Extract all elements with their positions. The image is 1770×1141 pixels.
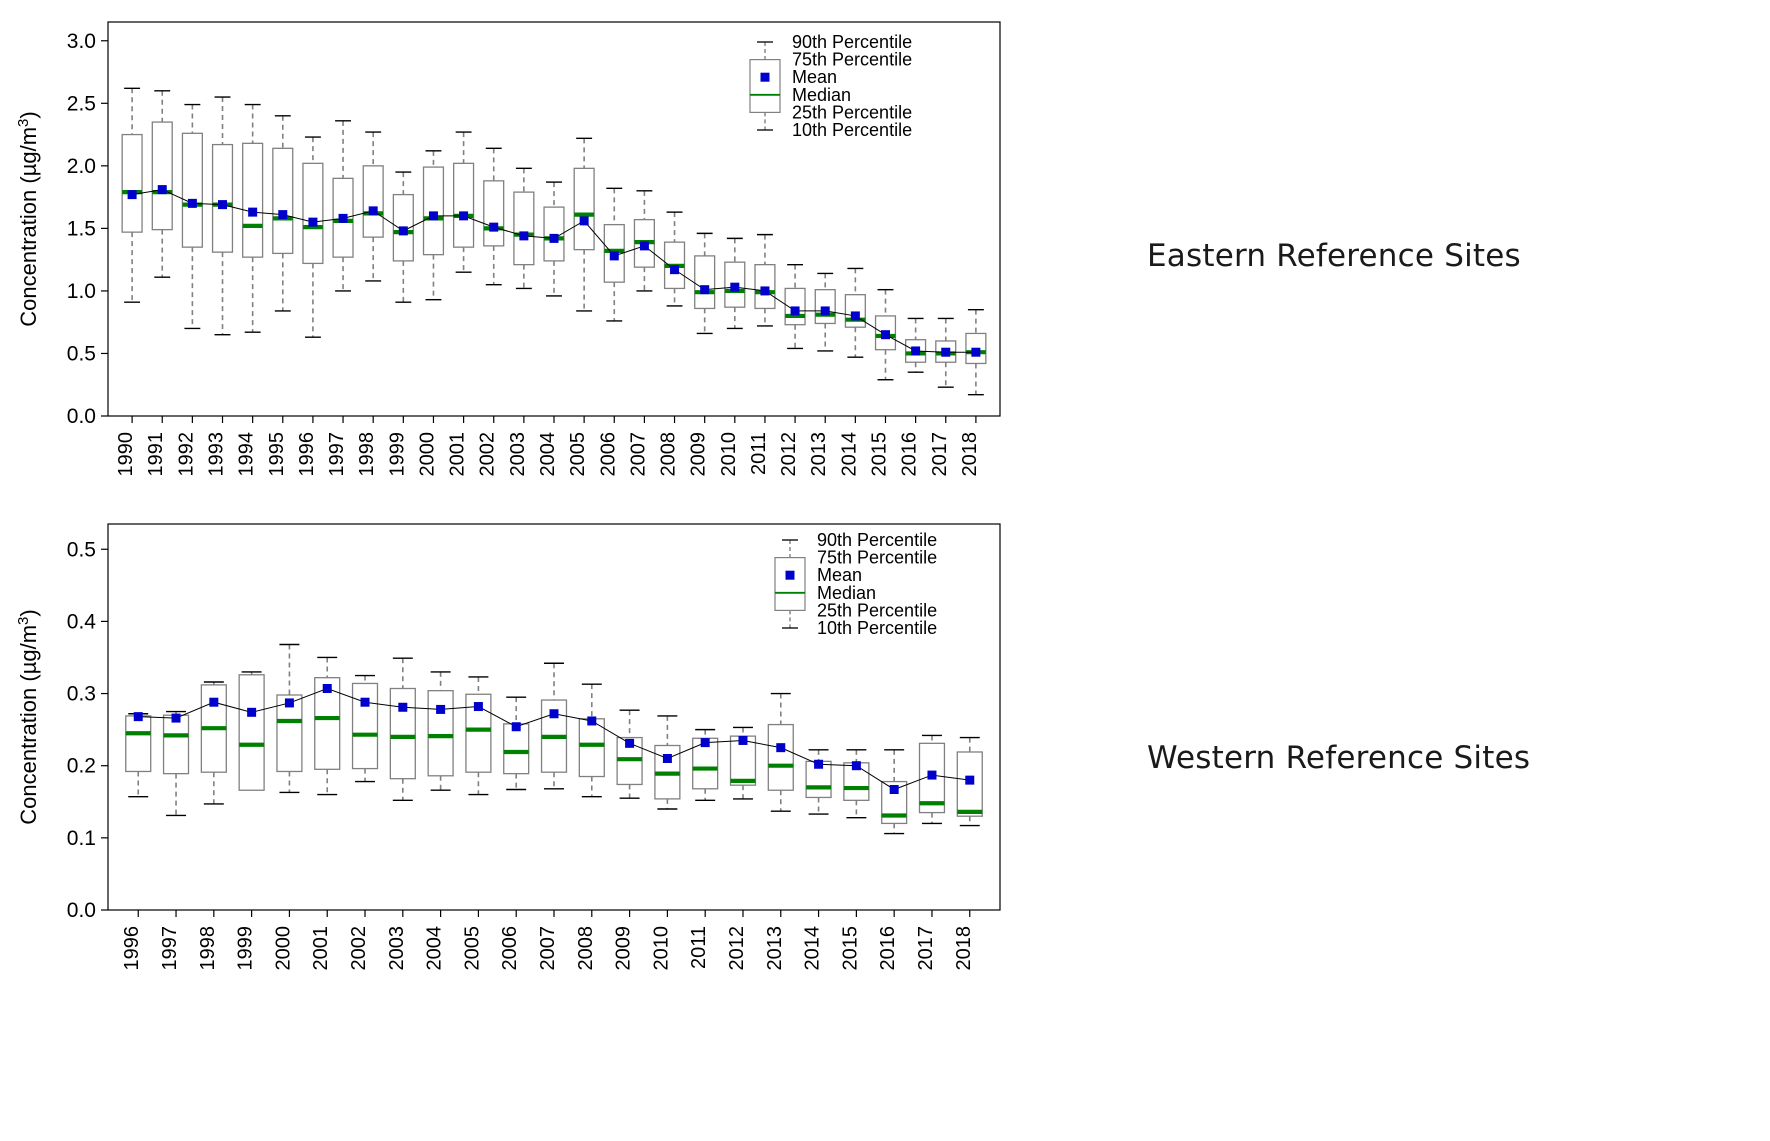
y-tick-label: 0.0 xyxy=(67,405,96,428)
chart-panel-eastern: 0.00.51.01.52.02.53.0Concentration (µg/m… xyxy=(0,0,1030,510)
x-tick-label: 2003 xyxy=(507,432,529,477)
x-tick-label: 2012 xyxy=(726,926,748,971)
mean-marker xyxy=(580,216,589,225)
box-iqr xyxy=(579,719,604,777)
mean-marker xyxy=(248,208,257,217)
x-tick-label: 2012 xyxy=(778,432,800,477)
y-tick-label: 0.3 xyxy=(67,683,96,706)
box-iqr xyxy=(845,295,865,328)
x-tick-label: 1990 xyxy=(115,432,137,477)
x-tick-label: 1993 xyxy=(206,432,228,477)
mean-marker xyxy=(890,785,899,794)
x-tick-label: 2016 xyxy=(877,926,899,971)
mean-marker xyxy=(852,761,861,770)
mean-marker xyxy=(158,185,167,194)
mean-marker xyxy=(369,206,378,215)
x-tick-label: 2005 xyxy=(567,432,589,477)
legend-label: 10th Percentile xyxy=(817,618,937,638)
y-tick-label: 2.0 xyxy=(67,155,96,178)
x-tick-label: 2017 xyxy=(929,432,951,477)
mean-marker xyxy=(911,346,920,355)
mean-marker xyxy=(927,771,936,780)
x-tick-label: 2007 xyxy=(537,926,559,971)
mean-marker xyxy=(429,211,438,220)
mean-marker xyxy=(814,760,823,769)
x-tick-label: 2004 xyxy=(424,926,446,971)
box-iqr xyxy=(424,167,444,255)
mean-marker xyxy=(663,754,672,763)
y-axis-title: Concentration (µg/m3) xyxy=(15,111,41,326)
x-tick-label: 2006 xyxy=(499,926,521,971)
y-tick-label: 0.4 xyxy=(67,610,97,633)
panel-label-western: Western Reference Sites xyxy=(1147,740,1530,776)
box-iqr xyxy=(182,133,202,247)
x-tick-label: 2013 xyxy=(764,926,786,971)
y-axis-title: Concentration (µg/m3) xyxy=(15,609,41,824)
box-iqr xyxy=(574,168,594,249)
mean-marker xyxy=(700,285,709,294)
mean-marker xyxy=(399,226,408,235)
x-tick-label: 2002 xyxy=(477,432,499,477)
x-tick-label: 2015 xyxy=(839,926,861,971)
x-tick-label: 2000 xyxy=(416,432,438,477)
box-iqr xyxy=(213,145,233,253)
mean-marker xyxy=(881,330,890,339)
mean-marker xyxy=(587,716,596,725)
mean-marker xyxy=(738,736,747,745)
mean-marker xyxy=(172,714,181,723)
mean-marker xyxy=(285,698,294,707)
y-tick-label: 2.5 xyxy=(67,92,96,115)
mean-marker xyxy=(610,251,619,260)
x-tick-label: 2013 xyxy=(808,432,830,477)
y-tick-label: 0.5 xyxy=(67,342,96,365)
mean-marker xyxy=(941,348,950,357)
x-tick-label: 2015 xyxy=(868,432,890,477)
x-tick-label: 2006 xyxy=(597,432,619,477)
box-iqr xyxy=(768,725,793,791)
x-tick-label: 1991 xyxy=(145,432,167,477)
x-tick-label: 2009 xyxy=(688,432,710,477)
x-tick-label: 2018 xyxy=(953,926,975,971)
x-tick-label: 2001 xyxy=(447,432,469,477)
mean-marker xyxy=(209,698,218,707)
chart-panel-western: 0.00.10.20.30.40.5Concentration (µg/m3)1… xyxy=(0,510,1030,1030)
y-tick-label: 1.0 xyxy=(67,280,96,303)
x-tick-label: 2001 xyxy=(310,926,332,971)
x-tick-label: 2010 xyxy=(650,926,672,971)
mean-marker xyxy=(550,234,559,243)
box-iqr xyxy=(243,143,263,257)
mean-marker xyxy=(247,708,256,717)
x-tick-label: 2008 xyxy=(658,432,680,477)
box-iqr xyxy=(239,675,264,790)
x-tick-label: 1999 xyxy=(235,926,257,971)
y-tick-label: 1.5 xyxy=(67,217,96,240)
x-tick-label: 2003 xyxy=(386,926,408,971)
mean-marker xyxy=(436,705,445,714)
x-tick-label: 2014 xyxy=(838,432,860,477)
mean-marker xyxy=(308,218,317,227)
box-iqr xyxy=(126,716,151,772)
x-tick-label: 2007 xyxy=(627,432,649,477)
x-tick-label: 2009 xyxy=(613,926,635,971)
x-tick-label: 1999 xyxy=(386,432,408,477)
mean-marker xyxy=(791,306,800,315)
x-tick-label: 2005 xyxy=(461,926,483,971)
x-tick-label: 1997 xyxy=(326,432,348,477)
box-iqr xyxy=(695,256,715,309)
mean-marker xyxy=(278,210,287,219)
box-group xyxy=(239,672,264,790)
boxplot-western: 0.00.10.20.30.40.5Concentration (µg/m3)1… xyxy=(0,510,1030,1030)
x-tick-label: 2016 xyxy=(899,432,921,477)
legend-mean-marker xyxy=(786,571,795,580)
mean-marker xyxy=(670,265,679,274)
x-tick-label: 1998 xyxy=(197,926,219,971)
mean-marker xyxy=(512,722,521,731)
x-tick-label: 2014 xyxy=(802,926,824,971)
box-iqr xyxy=(152,122,172,230)
x-tick-label: 1996 xyxy=(296,432,318,477)
box-iqr xyxy=(164,715,189,773)
x-tick-label: 2002 xyxy=(348,926,370,971)
mean-marker xyxy=(760,286,769,295)
mean-marker xyxy=(128,190,137,199)
mean-marker xyxy=(776,743,785,752)
y-tick-label: 0.0 xyxy=(67,899,96,922)
mean-marker xyxy=(218,200,227,209)
y-tick-label: 0.2 xyxy=(67,755,96,778)
box-iqr xyxy=(273,148,293,253)
legend-mean-marker xyxy=(761,73,770,82)
mean-marker xyxy=(489,223,498,232)
x-tick-label: 2008 xyxy=(575,926,597,971)
y-tick-label: 0.1 xyxy=(67,827,96,850)
mean-marker xyxy=(474,702,483,711)
mean-marker xyxy=(851,311,860,320)
mean-marker xyxy=(971,348,980,357)
box-iqr xyxy=(504,724,529,774)
mean-marker xyxy=(519,231,528,240)
mean-marker xyxy=(625,739,634,748)
mean-marker xyxy=(730,283,739,292)
box-group xyxy=(353,676,378,782)
legend-box xyxy=(750,60,780,113)
mean-marker xyxy=(965,776,974,785)
box-iqr xyxy=(484,181,504,246)
panel-label-eastern: Eastern Reference Sites xyxy=(1147,238,1521,274)
x-tick-label: 2000 xyxy=(272,926,294,971)
box-iqr xyxy=(454,163,474,247)
x-tick-label: 1995 xyxy=(266,432,288,477)
box-iqr xyxy=(514,192,534,265)
x-tick-label: 2017 xyxy=(915,926,937,971)
x-tick-label: 1992 xyxy=(175,432,197,477)
legend-label: 10th Percentile xyxy=(792,120,912,140)
boxplot-eastern: 0.00.51.01.52.02.53.0Concentration (µg/m… xyxy=(0,0,1030,510)
box-iqr xyxy=(303,163,323,263)
mean-marker xyxy=(188,199,197,208)
box-iqr xyxy=(122,135,142,233)
mean-marker xyxy=(550,709,559,718)
mean-marker xyxy=(361,698,370,707)
x-tick-label: 2011 xyxy=(688,926,710,969)
y-tick-label: 3.0 xyxy=(67,30,96,53)
x-tick-label: 2018 xyxy=(959,432,981,477)
x-tick-label: 1998 xyxy=(356,432,378,477)
box-iqr xyxy=(363,166,383,237)
legend-box xyxy=(775,558,805,611)
box-iqr xyxy=(353,683,378,768)
x-tick-label: 1997 xyxy=(159,926,181,971)
mean-marker xyxy=(134,712,143,721)
mean-marker xyxy=(323,684,332,693)
box-iqr xyxy=(428,691,453,776)
mean-marker xyxy=(821,306,830,315)
y-tick-label: 0.5 xyxy=(67,538,96,561)
x-tick-label: 2004 xyxy=(537,432,559,477)
x-tick-label: 1994 xyxy=(236,432,258,477)
mean-marker xyxy=(398,703,407,712)
mean-marker xyxy=(459,211,468,220)
mean-marker xyxy=(339,214,348,223)
x-tick-label: 1996 xyxy=(121,926,143,971)
mean-marker xyxy=(701,738,710,747)
x-tick-label: 2010 xyxy=(718,432,740,477)
x-tick-label: 2011 xyxy=(748,432,770,475)
mean-marker xyxy=(640,241,649,250)
box-iqr xyxy=(390,689,415,779)
